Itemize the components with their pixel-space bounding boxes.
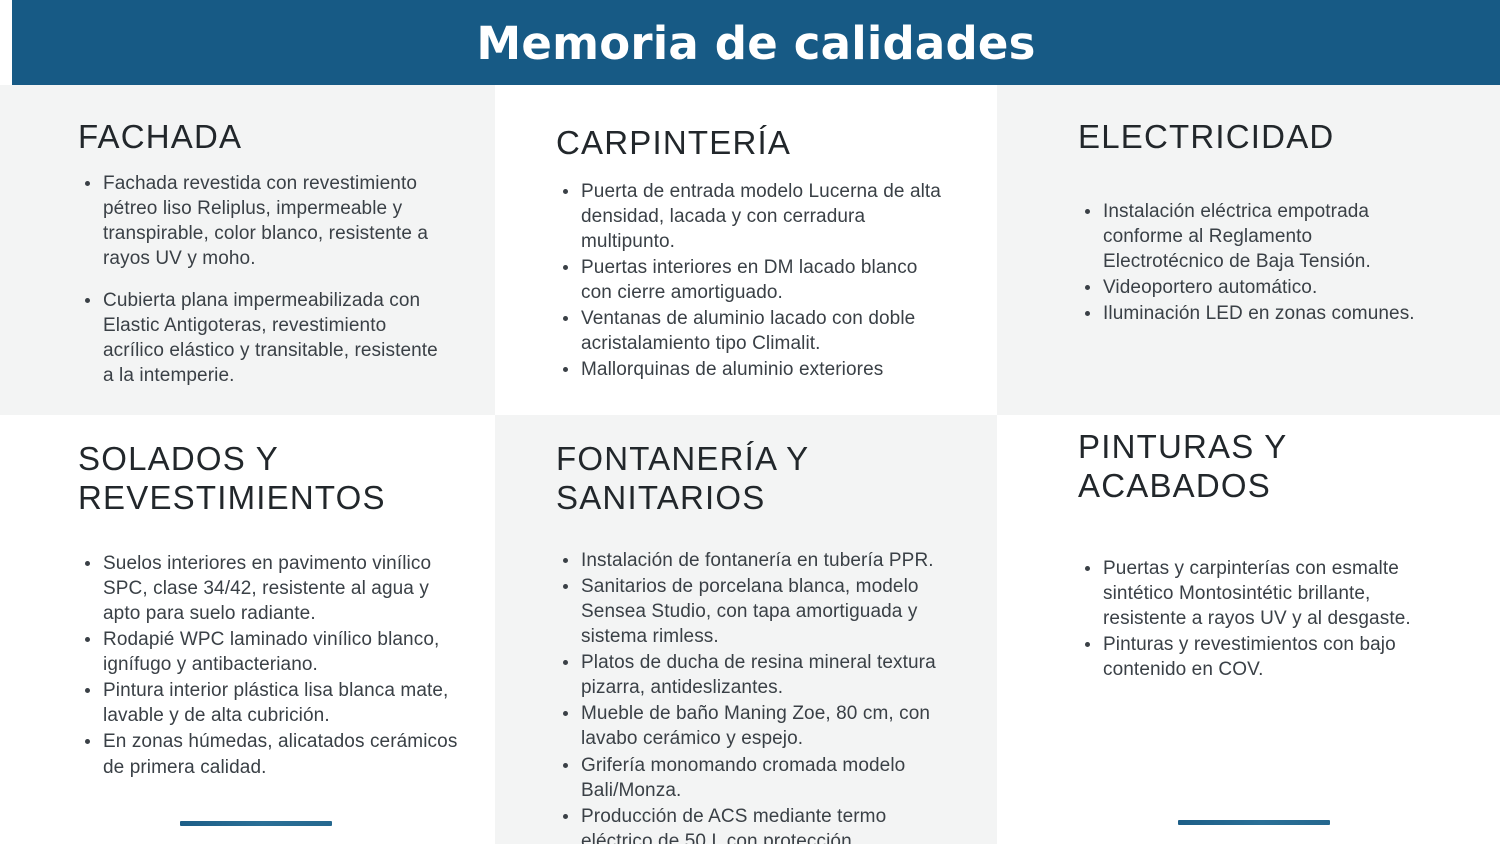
list-item: Instalación eléctrica empotrada conforme…: [1078, 199, 1428, 274]
list-item: Platos de ducha de resina mineral textur…: [556, 650, 946, 700]
list-item: Pintura interior plástica lisa blanca ma…: [78, 678, 468, 728]
accent-bar-right: [1178, 820, 1330, 825]
slide-page: Memoria de calidades FACHADA Fachada rev…: [0, 0, 1500, 844]
section-heading-fontaneria: FONTANERÍA Y SANITARIOS: [556, 440, 946, 518]
list-item: Fachada revestida con revestimiento pétr…: [78, 171, 438, 271]
list-item: Mallorquinas de aluminio exteriores: [556, 357, 946, 382]
bullet-list-fachada: Fachada revestida con revestimiento pétr…: [78, 171, 438, 389]
section-electricidad: ELECTRICIDAD Instalación eléctrica empot…: [1078, 118, 1428, 327]
list-item: Cubierta plana impermeabilizada con Elas…: [78, 288, 438, 388]
section-carpinteria: CARPINTERÍA Puerta de entrada modelo Luc…: [556, 124, 946, 384]
page-title: Memoria de calidades: [476, 21, 1035, 66]
bullet-list-fontaneria: Instalación de fontanería en tubería PPR…: [556, 548, 946, 844]
list-item: Puertas interiores en DM lacado blanco c…: [556, 255, 946, 305]
list-item: Instalación de fontanería en tubería PPR…: [556, 548, 946, 573]
list-item: Mueble de baño Maning Zoe, 80 cm, con la…: [556, 701, 946, 751]
section-heading-pinturas: PINTURAS Y ACABADOS: [1078, 428, 1448, 506]
list-item: Iluminación LED en zonas comunes.: [1078, 301, 1428, 326]
section-solados: SOLADOS Y REVESTIMIENTOS Suelos interior…: [78, 440, 468, 781]
section-heading-solados: SOLADOS Y REVESTIMIENTOS: [78, 440, 468, 518]
title-banner: Memoria de calidades: [12, 0, 1500, 85]
list-item: Pinturas y revestimientos con bajo conte…: [1078, 632, 1448, 682]
list-item: Puerta de entrada modelo Lucerna de alta…: [556, 179, 946, 254]
section-heading-electricidad: ELECTRICIDAD: [1078, 118, 1428, 157]
list-item: Grifería monomando cromada modelo Bali/M…: [556, 753, 946, 803]
list-item: Rodapié WPC laminado vinílico blanco, ig…: [78, 627, 468, 677]
list-item: Sanitarios de porcelana blanca, modelo S…: [556, 574, 946, 649]
section-heading-carpinteria: CARPINTERÍA: [556, 124, 946, 163]
list-item: Videoportero automático.: [1078, 275, 1428, 300]
section-pinturas: PINTURAS Y ACABADOS Puertas y carpinterí…: [1078, 428, 1448, 683]
accent-bar-left: [180, 821, 332, 826]
bullet-list-pinturas: Puertas y carpinterías con esmalte sinté…: [1078, 556, 1448, 682]
list-item: Producción de ACS mediante termo eléctri…: [556, 804, 946, 844]
list-item: En zonas húmedas, alicatados cerámicos d…: [78, 729, 468, 779]
bullet-list-electricidad: Instalación eléctrica empotrada conforme…: [1078, 199, 1428, 326]
list-item: Ventanas de aluminio lacado con doble ac…: [556, 306, 946, 356]
list-item: Suelos interiores en pavimento vinílico …: [78, 551, 468, 626]
bullet-list-carpinteria: Puerta de entrada modelo Lucerna de alta…: [556, 179, 946, 383]
list-item: Puertas y carpinterías con esmalte sinté…: [1078, 556, 1448, 631]
section-fontaneria: FONTANERÍA Y SANITARIOS Instalación de f…: [556, 440, 946, 844]
section-fachada: FACHADA Fachada revestida con revestimie…: [78, 118, 438, 406]
bullet-list-solados: Suelos interiores en pavimento vinílico …: [78, 551, 468, 780]
section-heading-fachada: FACHADA: [78, 118, 438, 157]
